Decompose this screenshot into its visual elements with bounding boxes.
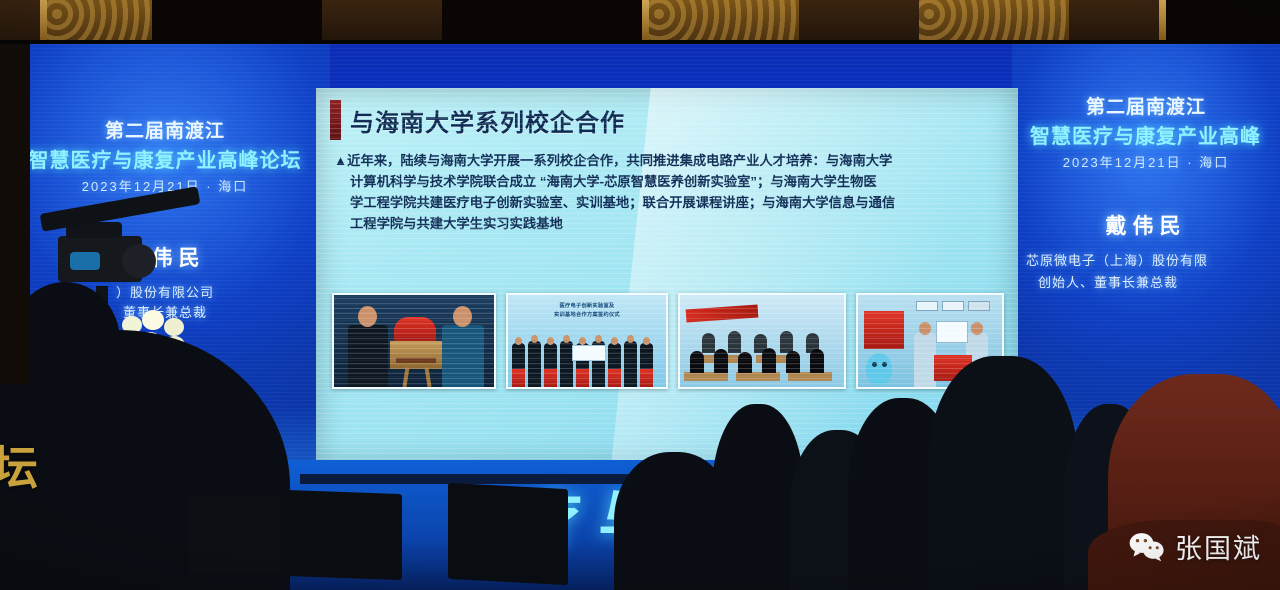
slide-body-line-2: 计算机科学与技术学院联合成立 “海南大学-芯原智慧医养创新实验室”；与海南大学生… xyxy=(350,174,877,189)
slide-body-line-3: 学工程学院共建医疗电子创新实验室、实训基地；联合开展课程讲座；与海南大学信息与通… xyxy=(350,195,895,210)
slide-title-accent-bar xyxy=(330,100,341,140)
banner-left-speaker-name: 戴伟民 xyxy=(0,242,330,272)
banner-right-speaker-title: 创始人、董事长兼总裁 xyxy=(1038,272,1280,291)
conference-photo-scene: 第二届南渡江 智慧医疗与康复产业高峰论坛 2023年12月21日 · 海口 戴伟… xyxy=(0,0,1280,590)
slide-photo-plaque-unveiling xyxy=(332,293,496,389)
banner-right-date: 2023年12月21日 · 海口 xyxy=(1012,152,1280,171)
watermark-name: 张国斌 xyxy=(1175,527,1262,566)
watermark: 张国斌 xyxy=(1128,527,1262,566)
slide-body-line-1: 近年来，陆续与海南大学开展一系列校企合作，共同推进集成电路产业人才培养：与海南大… xyxy=(347,153,892,168)
banner-right-speaker-name: 戴伟民 xyxy=(1012,210,1280,240)
banner-left-line1: 第二届南渡江 xyxy=(0,116,330,143)
camera-lens xyxy=(122,244,156,278)
slide-body-line-4: 工程学院与共建大学生实习实践基地 xyxy=(350,216,563,231)
slide-photo-classroom xyxy=(678,293,846,389)
photo2-caption-line1: 医疗电子创新实验室及 xyxy=(508,302,666,310)
venue-wall xyxy=(0,0,1280,48)
photo2-caption-line2: 实训基地合作方案签约仪式 xyxy=(508,311,666,319)
banner-right-speaker-org: 芯原微电子（上海）股份有限 xyxy=(1026,250,1280,269)
slide-photo-signing-ceremony: 医疗电子创新实验室及 实训基地合作方案签约仪式 xyxy=(506,293,668,389)
slide-body-text: ▲近年来，陆续与海南大学开展一系列校企合作，共同推进集成电路产业人才培养：与海南… xyxy=(334,150,1002,234)
stage-monitor-right xyxy=(284,490,402,580)
wechat-icon xyxy=(1128,532,1166,562)
slide-photo-strip: 医疗电子创新实验室及 实训基地合作方案签约仪式 xyxy=(332,293,1004,389)
camera-screen xyxy=(70,252,100,270)
stage-monitor-far-right xyxy=(448,483,568,585)
slide-title: 与海南大学系列校企合作 xyxy=(350,103,625,138)
jacket-back-glyph: 坛 xyxy=(0,432,40,498)
bullet-marker: ▲ xyxy=(334,153,347,168)
banner-right-line2: 智慧医疗与康复产业高峰 xyxy=(1030,120,1280,149)
banner-right-line1: 第二届南渡江 xyxy=(1012,92,1280,119)
stage-monitor-left xyxy=(188,496,280,574)
audience-person-5 xyxy=(928,356,1078,590)
banner-left-line2: 智慧医疗与康复产业高峰论坛 xyxy=(0,144,330,173)
venue-pillar-left xyxy=(0,44,30,384)
